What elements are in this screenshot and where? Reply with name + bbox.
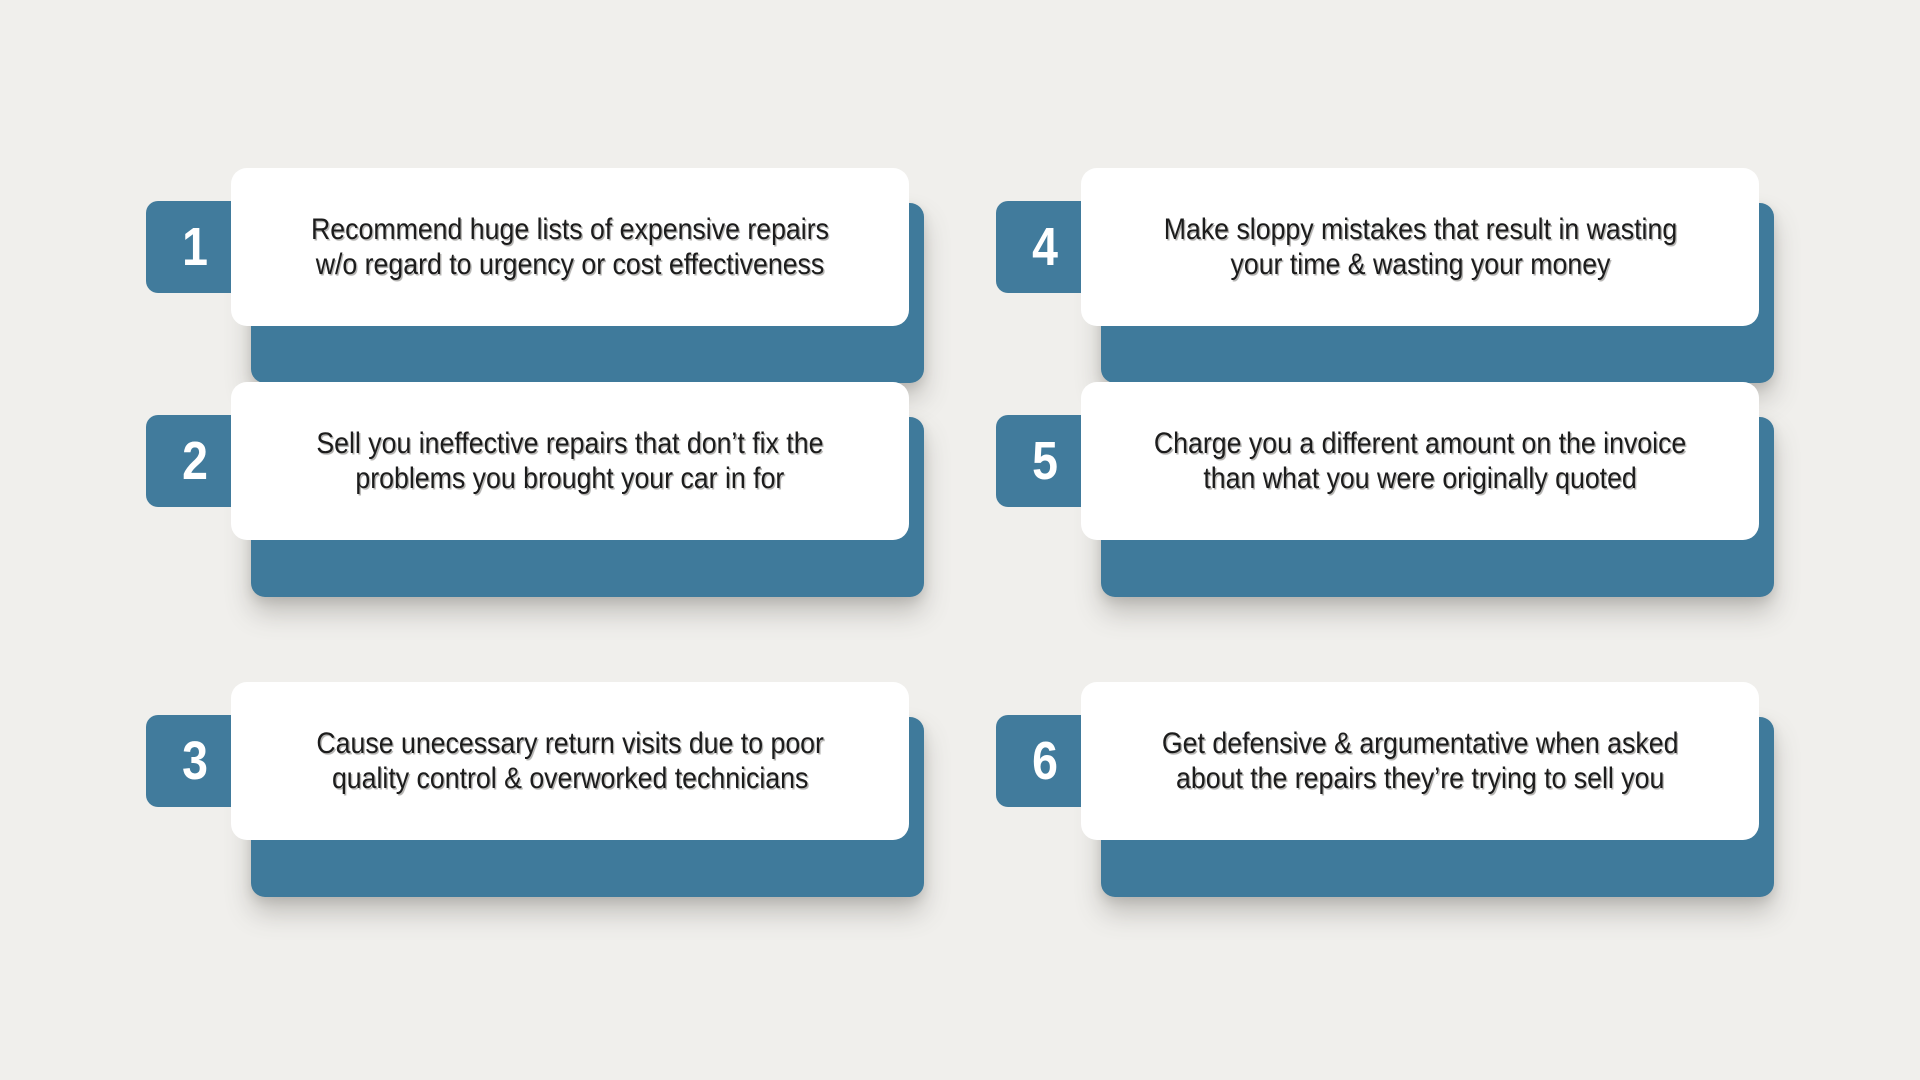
callout-card-5[interactable]: 5 Charge you a different amount on the i… [996, 382, 1781, 597]
cards-board: 1 Recommend huge lists of expensive repa… [0, 0, 1920, 1080]
card-panel-1: Recommend huge lists of expensive repair… [231, 168, 909, 326]
callout-card-3[interactable]: 3 Cause unecessary return visits due to … [146, 682, 931, 897]
callout-card-4[interactable]: 4 Make sloppy mistakes that result in wa… [996, 168, 1781, 383]
card-number-badge-2: 2 [146, 415, 244, 507]
card-panel-2: Sell you ineffective repairs that don’t … [231, 382, 909, 540]
card-number-badge-6: 6 [996, 715, 1094, 807]
card-number-badge-1: 1 [146, 201, 244, 293]
card-text-5: Charge you a different amount on the inv… [1154, 426, 1686, 496]
card-panel-4: Make sloppy mistakes that result in wast… [1081, 168, 1759, 326]
card-number-badge-5: 5 [996, 415, 1094, 507]
callout-card-1[interactable]: 1 Recommend huge lists of expensive repa… [146, 168, 931, 383]
card-text-6: Get defensive & argumentative when asked… [1162, 726, 1679, 796]
card-text-2: Sell you ineffective repairs that don’t … [316, 426, 823, 496]
card-panel-3: Cause unecessary return visits due to po… [231, 682, 909, 840]
card-number-label: 2 [182, 434, 208, 488]
card-number-label: 5 [1032, 434, 1058, 488]
card-panel-5: Charge you a different amount on the inv… [1081, 382, 1759, 540]
card-number-label: 6 [1032, 734, 1058, 788]
card-text-3: Cause unecessary return visits due to po… [316, 726, 824, 796]
callout-card-2[interactable]: 2 Sell you ineffective repairs that don’… [146, 382, 931, 597]
card-number-label: 3 [182, 734, 208, 788]
card-number-label: 4 [1032, 220, 1058, 274]
card-number-badge-4: 4 [996, 201, 1094, 293]
card-number-label: 1 [182, 220, 208, 274]
card-text-4: Make sloppy mistakes that result in wast… [1163, 212, 1676, 282]
card-number-badge-3: 3 [146, 715, 244, 807]
callout-card-6[interactable]: 6 Get defensive & argumentative when ask… [996, 682, 1781, 897]
card-panel-6: Get defensive & argumentative when asked… [1081, 682, 1759, 840]
card-text-1: Recommend huge lists of expensive repair… [311, 212, 829, 282]
